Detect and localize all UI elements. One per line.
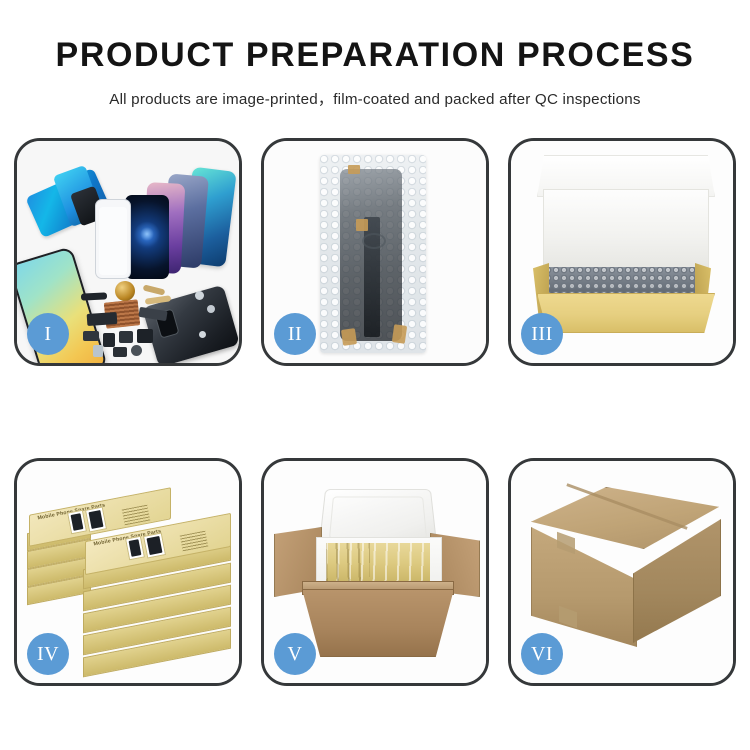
camera-lens-icon — [131, 345, 142, 356]
speaker-coil-icon — [115, 281, 135, 301]
process-step-card-6[interactable]: VI — [508, 458, 736, 686]
module-part-6-icon — [137, 329, 153, 343]
screw-icon — [195, 291, 204, 300]
tape-piece-2-icon — [356, 219, 368, 231]
box-front-panel-icon — [537, 293, 715, 333]
screw-3-icon — [199, 331, 206, 338]
flex-cable-gold-icon — [143, 284, 166, 295]
connector-icon — [362, 233, 386, 249]
carton-body-icon — [302, 589, 454, 657]
process-step-card-2[interactable]: II — [261, 138, 489, 366]
step-badge-2: II — [274, 313, 316, 355]
product-preparation-page: PRODUCT PREPARATION PROCESS All products… — [0, 0, 750, 750]
tape-piece-4-icon — [392, 324, 407, 344]
module-part-7-icon — [113, 347, 127, 357]
step-badge-3: III — [521, 313, 563, 355]
process-step-card-3[interactable]: III — [508, 138, 736, 366]
process-step-card-4[interactable]: Mobile Phone Spare Parts Mobile Phone Sp… — [14, 458, 242, 686]
tempered-glass-icon — [95, 199, 131, 279]
carton-front-face-icon — [531, 527, 637, 647]
step-badge-5: V — [274, 633, 316, 675]
process-step-grid: I II — [14, 138, 737, 686]
module-part-5-icon — [119, 331, 133, 343]
module-part-4-icon — [103, 333, 115, 347]
phone-dark-screen-icon — [125, 195, 169, 279]
screw-2-icon — [207, 305, 215, 313]
step-badge-1: I — [27, 313, 69, 355]
bubble-wrap-bag-icon — [320, 155, 426, 353]
white-foam-sheet-icon — [543, 189, 709, 269]
module-part-2-icon — [87, 312, 118, 326]
page-title: PRODUCT PREPARATION PROCESS — [0, 38, 750, 74]
yellow-boxes-inside-icon — [326, 543, 430, 585]
process-step-card-1[interactable]: I — [14, 138, 242, 366]
module-part-3-icon — [83, 331, 99, 341]
box-product-photo-b2-icon — [143, 532, 166, 558]
tape-piece-3-icon — [341, 328, 357, 346]
step-badge-6: VI — [521, 633, 563, 675]
page-header: PRODUCT PREPARATION PROCESS All products… — [0, 0, 750, 109]
grey-bubble-wrap-icon — [545, 267, 703, 295]
flex-cable-icon — [81, 292, 107, 300]
step-badge-4: IV — [27, 633, 69, 675]
page-subtitle: All products are image-printed，film-coat… — [0, 87, 750, 109]
process-step-card-5[interactable]: V — [261, 458, 489, 686]
sim-tray-icon — [93, 345, 103, 357]
tape-piece-1-icon — [348, 165, 360, 174]
